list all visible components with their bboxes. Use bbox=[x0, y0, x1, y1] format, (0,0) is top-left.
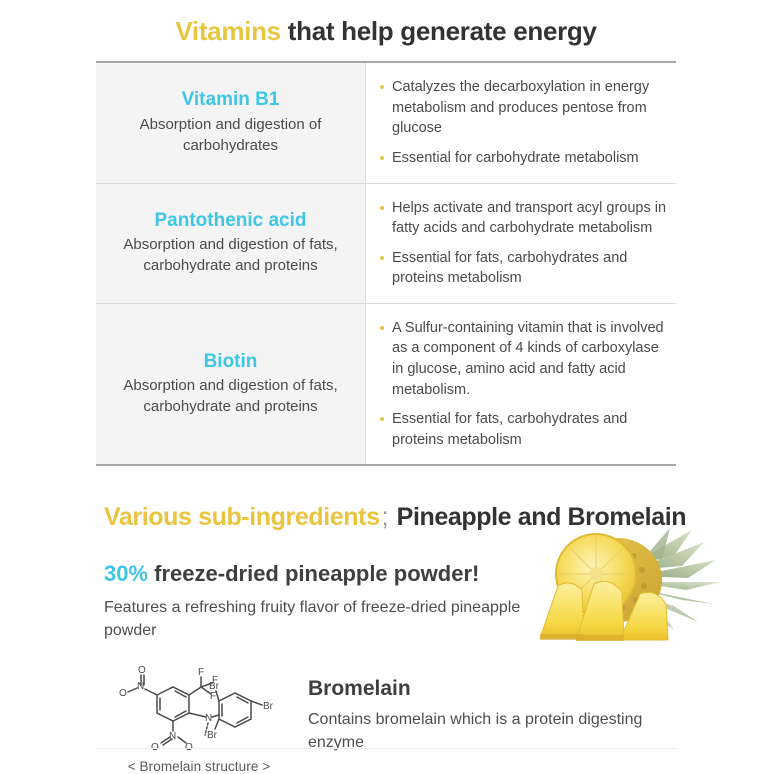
atom-label-F: F bbox=[210, 691, 216, 702]
atom-label-N: N bbox=[169, 731, 176, 742]
bromelain-heading: Bromelain bbox=[308, 675, 676, 702]
table-cell-vitamin-name: Biotin Absorption and digestion of fats,… bbox=[96, 304, 366, 464]
list-item-text: Helps activate and transport acyl groups… bbox=[392, 198, 670, 239]
bullet-dot-icon bbox=[380, 256, 384, 260]
page-title-highlight: Vitamins bbox=[175, 16, 281, 46]
list-item-text: Essential for fats, carbohydrates and pr… bbox=[392, 248, 670, 289]
pineapple-heading: 30% freeze-dried pineapple powder! bbox=[104, 560, 676, 589]
bullet-dot-icon bbox=[380, 85, 384, 89]
table-row: Biotin Absorption and digestion of fats,… bbox=[96, 304, 676, 464]
bullet-dot-icon bbox=[380, 156, 384, 160]
atom-label-Br: Br bbox=[209, 681, 220, 692]
vitamin-description: Absorption and digestion of carbohydrate… bbox=[108, 115, 353, 156]
table-cell-vitamin-name: Vitamin B1 Absorption and digestion of c… bbox=[96, 63, 366, 182]
list-item: Essential for fats, carbohydrates and pr… bbox=[380, 248, 670, 289]
table-row: Vitamin B1 Absorption and digestion of c… bbox=[96, 63, 676, 183]
bullet-dot-icon bbox=[380, 326, 384, 330]
list-item: Catalyzes the decarboxylation in energy … bbox=[380, 77, 670, 139]
vitamin-description: Absorption and digestion of fats, carboh… bbox=[108, 235, 353, 276]
bullet-dot-icon bbox=[380, 206, 384, 210]
atom-label-F: F bbox=[198, 667, 204, 678]
table-row: Pantothenic acid Absorption and digestio… bbox=[96, 184, 676, 304]
bromelain-structure: N O O N O O N F F F Br Br Br < Bromelain… bbox=[104, 657, 294, 774]
bromelain-block: N O O N O O N F F F Br Br Br < Bromelain… bbox=[104, 657, 676, 774]
table-cell-vitamin-name: Pantothenic acid Absorption and digestio… bbox=[96, 184, 366, 303]
atom-label-O: O bbox=[138, 665, 146, 676]
vitamins-table: Vitamin B1 Absorption and digestion of c… bbox=[96, 61, 676, 466]
pineapple-heading-rest: freeze-dried pineapple powder! bbox=[148, 561, 479, 586]
atom-label-N: N bbox=[137, 681, 144, 692]
bromelain-structure-caption: < Bromelain structure > bbox=[104, 759, 294, 774]
pineapple-body: Features a refreshing fruity flavor of f… bbox=[104, 596, 534, 642]
page-title: Vitamins that help generate energy bbox=[0, 0, 772, 61]
table-cell-vitamin-benefits: Catalyzes the decarboxylation in energy … bbox=[366, 63, 676, 182]
list-item-text: A Sulfur-containing vitamin that is invo… bbox=[392, 318, 670, 400]
list-item-text: Essential for carbohydrate metabolism bbox=[392, 148, 670, 169]
sub-title-separator: ; bbox=[380, 503, 391, 531]
list-item: Essential for carbohydrate metabolism bbox=[380, 148, 670, 169]
list-item: A Sulfur-containing vitamin that is invo… bbox=[380, 318, 670, 400]
bottom-divider bbox=[96, 748, 676, 749]
atom-label-Br: Br bbox=[263, 701, 274, 712]
vitamin-name: Pantothenic acid bbox=[154, 208, 306, 234]
vitamins-section: Vitamins that help generate energy Vitam… bbox=[0, 0, 772, 466]
pineapple-block: 30% freeze-dried pineapple powder! Featu… bbox=[104, 560, 676, 643]
bullet-dot-icon bbox=[380, 417, 384, 421]
bromelain-text: Bromelain Contains bromelain which is a … bbox=[294, 657, 676, 755]
table-cell-vitamin-benefits: A Sulfur-containing vitamin that is invo… bbox=[366, 304, 676, 464]
chemical-structure-icon: N O O N O O N F F F Br Br Br bbox=[111, 661, 287, 757]
list-item: Helps activate and transport acyl groups… bbox=[380, 198, 670, 239]
list-item: Essential for fats, carbohydrates and pr… bbox=[380, 409, 670, 450]
atom-label-N: N bbox=[205, 713, 212, 724]
atom-label-O: O bbox=[119, 688, 127, 699]
table-cell-vitamin-benefits: Helps activate and transport acyl groups… bbox=[366, 184, 676, 303]
list-item-text: Catalyzes the decarboxylation in energy … bbox=[392, 77, 670, 139]
sub-title-highlight: Various sub-ingredients bbox=[104, 503, 380, 531]
atom-label-Br: Br bbox=[207, 730, 218, 741]
atom-label-O: O bbox=[151, 742, 159, 753]
page-title-rest: that help generate energy bbox=[281, 16, 597, 46]
pineapple-percent: 30% bbox=[104, 561, 148, 586]
vitamin-description: Absorption and digestion of fats, carboh… bbox=[108, 376, 353, 417]
vitamin-name: Biotin bbox=[204, 349, 258, 375]
atom-label-O: O bbox=[185, 742, 193, 753]
list-item-text: Essential for fats, carbohydrates and pr… bbox=[392, 409, 670, 450]
vitamin-name: Vitamin B1 bbox=[182, 87, 280, 113]
